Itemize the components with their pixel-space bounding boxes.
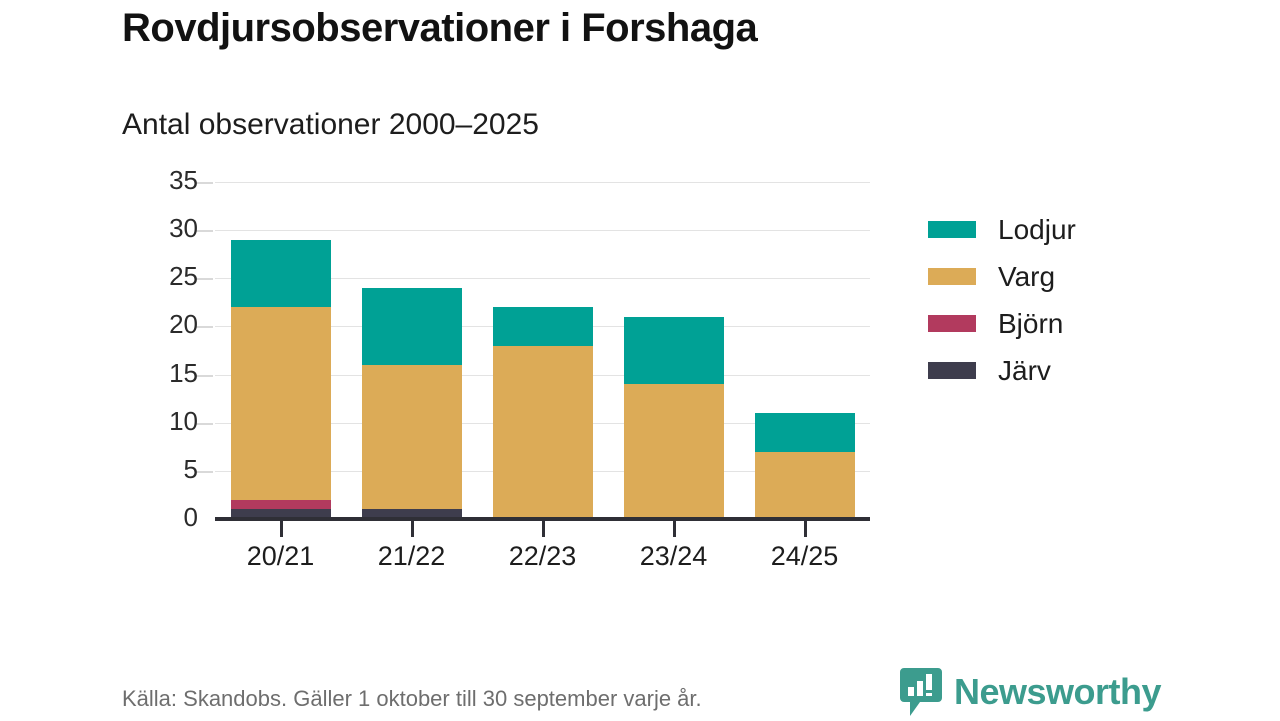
bar-segment[interactable]: [231, 240, 331, 307]
x-tick-mark: [411, 521, 414, 537]
y-tick-label: 5: [138, 456, 198, 482]
x-tick-label: 24/25: [735, 541, 875, 572]
speech-bubble-bar-chart-icon: [900, 668, 942, 716]
x-tick-label: 20/21: [211, 541, 351, 572]
y-tick-label: 0: [138, 504, 198, 530]
legend-item[interactable]: Björn: [928, 300, 1076, 347]
y-tick-dash: [196, 375, 213, 377]
x-tick-mark: [280, 521, 283, 537]
legend-label: Lodjur: [998, 214, 1076, 246]
x-tick-mark: [673, 521, 676, 537]
y-tick-label: 15: [138, 360, 198, 386]
legend-item[interactable]: Järv: [928, 347, 1076, 394]
bar-segment[interactable]: [755, 452, 855, 519]
x-tick-label: 21/22: [342, 541, 482, 572]
chart-plot-area: 05101520253035 20/2121/2222/2323/2424/25: [0, 0, 1280, 720]
y-tick-label: 30: [138, 215, 198, 241]
y-tick-label: 25: [138, 263, 198, 289]
legend-color-swatch: [928, 362, 976, 379]
y-tick-label: 35: [138, 167, 198, 193]
y-tick-dash: [196, 230, 213, 232]
y-tick-dash: [196, 182, 213, 184]
gridline: [215, 182, 870, 183]
gridline: [215, 230, 870, 231]
legend-color-swatch: [928, 268, 976, 285]
legend-label: Varg: [998, 261, 1055, 293]
y-tick-label: 20: [138, 311, 198, 337]
y-tick-dash: [196, 423, 213, 425]
legend-color-swatch: [928, 221, 976, 238]
bar-segment[interactable]: [624, 317, 724, 384]
chart-legend: LodjurVargBjörnJärv: [928, 206, 1076, 394]
legend-label: Björn: [998, 308, 1063, 340]
x-tick-mark: [804, 521, 807, 537]
bar-segment[interactable]: [755, 413, 855, 452]
bar-segment[interactable]: [362, 365, 462, 509]
bar-segment[interactable]: [624, 384, 724, 519]
logo-wordmark: Newsworthy: [954, 671, 1161, 713]
newsworthy-logo[interactable]: Newsworthy: [900, 668, 1161, 716]
bar-segment[interactable]: [231, 307, 331, 500]
y-tick-label: 10: [138, 408, 198, 434]
y-tick-dash: [196, 278, 213, 280]
y-tick-dash: [196, 326, 213, 328]
x-tick-label: 22/23: [473, 541, 613, 572]
bar-segment[interactable]: [362, 288, 462, 365]
source-note: Källa: Skandobs. Gäller 1 oktober till 3…: [122, 686, 702, 712]
x-tick-mark: [542, 521, 545, 537]
y-tick-dash: [196, 471, 213, 473]
legend-color-swatch: [928, 315, 976, 332]
bar-segment[interactable]: [231, 500, 331, 510]
legend-item[interactable]: Varg: [928, 253, 1076, 300]
legend-label: Järv: [998, 355, 1051, 387]
bar-segment[interactable]: [493, 346, 593, 519]
legend-item[interactable]: Lodjur: [928, 206, 1076, 253]
bar-segment[interactable]: [493, 307, 593, 346]
x-tick-label: 23/24: [604, 541, 744, 572]
